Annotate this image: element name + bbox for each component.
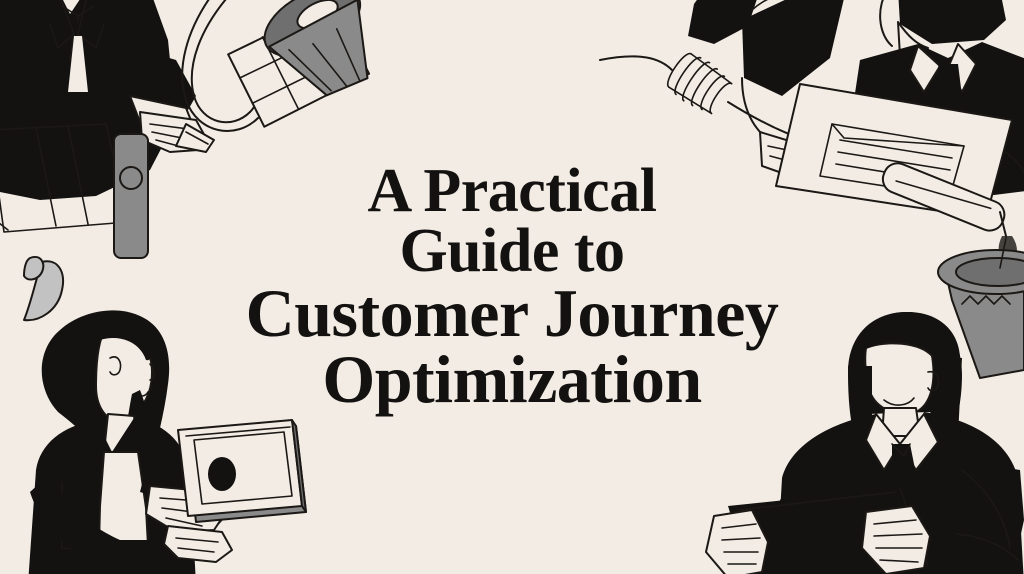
tablet-device bbox=[178, 420, 306, 522]
illustration-layer: .ink { fill: #141210; } .ln { fill: none… bbox=[0, 0, 1024, 574]
poster-canvas: .ink { fill: #141210; } .ln { fill: none… bbox=[0, 0, 1024, 574]
